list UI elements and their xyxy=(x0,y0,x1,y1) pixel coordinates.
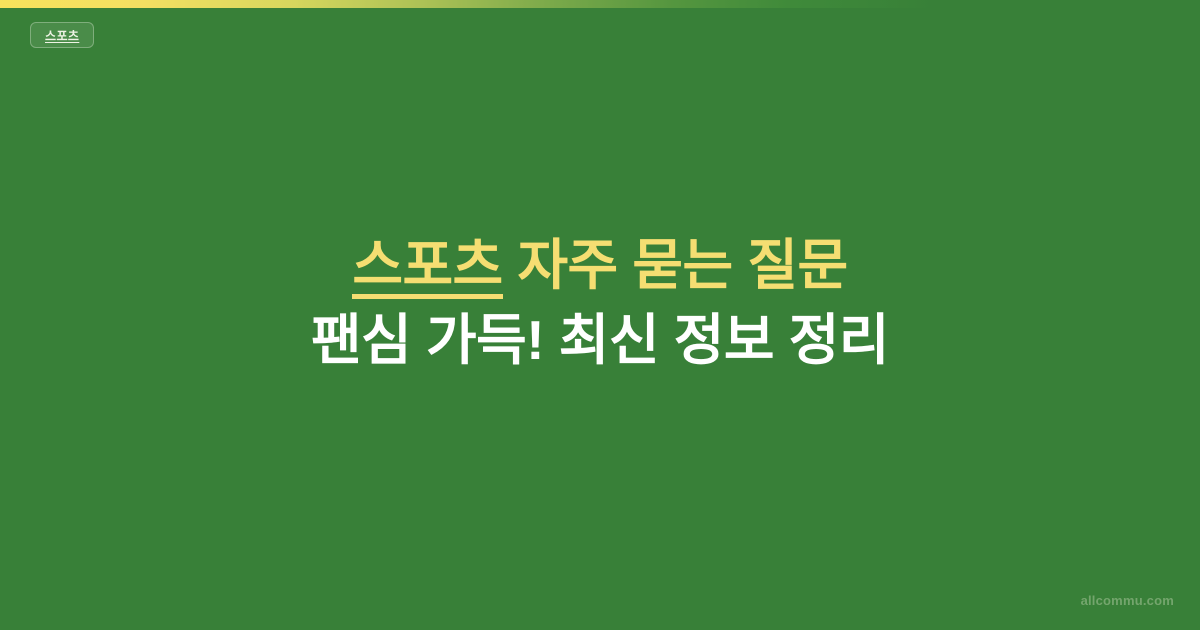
site-watermark: allcommu.com xyxy=(1081,593,1174,608)
headline-keyword: 스포츠 xyxy=(352,238,502,299)
top-gradient-bar xyxy=(0,0,1200,8)
headline-line-1-rest: 자주 묻는 질문 xyxy=(503,234,848,296)
headline-block: 스포츠 자주 묻는 질문 팬심 가득! 최신 정보 정리 xyxy=(0,228,1200,378)
thumbnail-card: 스포츠 스포츠 자주 묻는 질문 팬심 가득! 최신 정보 정리 allcomm… xyxy=(0,0,1200,630)
headline-line-2: 팬심 가득! 최신 정보 정리 xyxy=(0,303,1200,378)
category-badge[interactable]: 스포츠 xyxy=(30,22,94,48)
category-badge-label: 스포츠 xyxy=(45,27,79,44)
headline-line-1: 스포츠 자주 묻는 질문 xyxy=(0,228,1200,303)
